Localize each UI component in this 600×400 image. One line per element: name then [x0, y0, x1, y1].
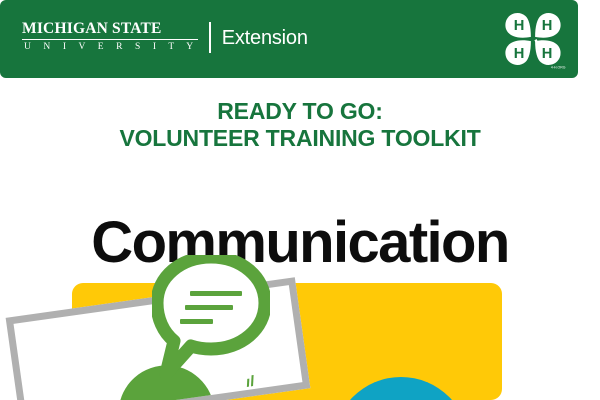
- msu-wordmark-line2: U N I V E R S I T Y: [22, 42, 198, 53]
- msu-extension-logo: MICHIGAN STATE U N I V E R S I T Y Exten…: [22, 21, 308, 55]
- communication-illustration: ıl: [0, 255, 600, 400]
- msu-wordmark-rule: [22, 39, 198, 41]
- eyebrow-line-1: READY TO GO:: [217, 98, 382, 124]
- svg-text:H: H: [514, 46, 525, 62]
- msu-wordmark-line1: MICHIGAN STATE: [22, 21, 198, 37]
- msu-extension-label: Extension: [211, 21, 308, 55]
- svg-text:H: H: [542, 18, 553, 34]
- eyebrow-line-2: VOLUNTEER TRAINING TOOLKIT: [0, 125, 600, 152]
- msu-wordmark: MICHIGAN STATE U N I V E R S I T Y: [22, 21, 209, 55]
- 4-h-stem-text: 4-H.ORG: [551, 65, 566, 69]
- speech-bubble-icon: [152, 255, 270, 378]
- svg-text:H: H: [514, 18, 525, 34]
- speech-bubble-outline: [157, 257, 265, 374]
- 4-h-clover-icon: H H H H 4-H.ORG: [497, 4, 569, 74]
- header-band: MICHIGAN STATE U N I V E R S I T Y Exten…: [0, 0, 578, 78]
- svg-text:H: H: [542, 46, 553, 62]
- toolkit-eyebrow: READY TO GO: VOLUNTEER TRAINING TOOLKIT: [0, 98, 600, 152]
